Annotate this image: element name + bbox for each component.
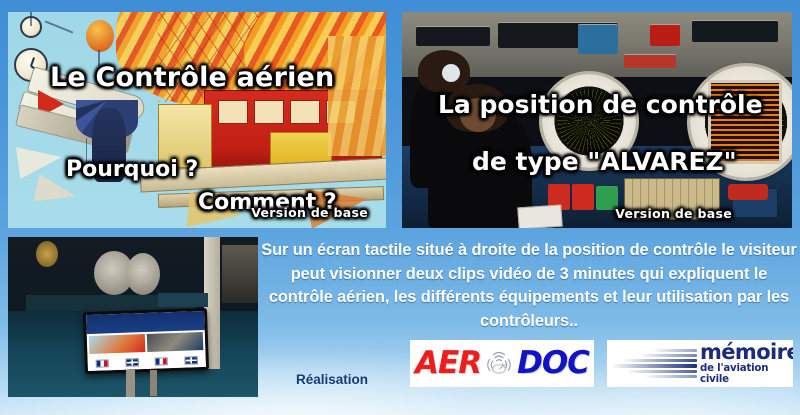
red-button-bar-icon: [728, 184, 768, 200]
flag-uk-icon[interactable]: [184, 356, 197, 364]
alvarez-title-line-2: de type "ALVAREZ": [472, 147, 737, 176]
gondola-window-icon: [290, 100, 320, 124]
flag-fr-icon[interactable]: [96, 359, 109, 367]
affiche-title: Le Contrôle aérien: [50, 62, 334, 93]
kiosk-language-bar[interactable]: [88, 352, 206, 371]
ceiling-panel-icon: [692, 20, 778, 42]
photo-borne-tactile[interactable]: [8, 237, 258, 397]
exhibit-lamp-icon: [36, 241, 58, 267]
memoire-wordmark: mémoire de l'aviation civile: [697, 342, 793, 384]
memoire-title: mémoire: [700, 342, 793, 363]
alvarez-version-label: Version de base: [615, 206, 732, 221]
radar-antenna-icon: [482, 347, 516, 381]
touchscreen-kiosk[interactable]: [83, 308, 209, 374]
exhibit-table: [158, 293, 208, 307]
ceiling-monitor-icon: [578, 24, 618, 54]
gondola-window-icon: [254, 100, 284, 124]
flight-strip-holder: [572, 184, 594, 210]
hot-air-balloon-icon: [86, 20, 114, 52]
flag-fr-icon[interactable]: [155, 357, 168, 365]
aerodoc-text-aer: AER: [415, 348, 481, 379]
kiosk-stand-leg: [150, 370, 157, 396]
memoire-subtitle: de l'aviation civile: [700, 364, 793, 384]
affiche-question-1: Pourquoi ?: [66, 157, 198, 182]
red-indicator-icon: [624, 54, 676, 68]
logo-aerodoc[interactable]: AER DOC: [410, 340, 594, 387]
photo-affiche-controle-aerien[interactable]: Le Contrôle aérien Pourquoi ? Comment ? …: [8, 12, 386, 228]
caption-text: Sur un écran tactile situé à droite de l…: [258, 239, 800, 333]
right-panel-icon: [328, 36, 386, 156]
realisation-label: Réalisation: [296, 372, 368, 387]
cord-icon: [30, 12, 32, 26]
cord-icon: [45, 20, 74, 33]
badge-icon: [442, 64, 460, 82]
gondola-window-icon: [218, 100, 248, 124]
alvarez-title-line-1: La position de contrôle: [438, 90, 763, 119]
speed-lines-icon: [611, 349, 697, 379]
room-doorway: [222, 245, 258, 303]
paper-plane-icon: [16, 141, 64, 179]
poster-canvas: Le Contrôle aérien Pourquoi ? Comment ? …: [0, 0, 800, 415]
aerodoc-wordmark: AER DOC: [415, 347, 589, 381]
aerodoc-text-doc: DOC: [517, 348, 589, 379]
flag-uk-icon[interactable]: [125, 358, 138, 366]
kiosk-thumbnail-alvarez[interactable]: [147, 332, 204, 352]
logo-memoire-aviation-civile[interactable]: mémoire de l'aviation civile: [607, 340, 793, 387]
paper-sheet-icon: [517, 204, 562, 228]
kiosk-screen[interactable]: [86, 311, 206, 371]
affiche-version-label: Version de base: [251, 205, 368, 220]
ceiling-panel-icon: [416, 26, 490, 46]
photo-position-controle-alvarez[interactable]: La position de contrôle de type "ALVAREZ…: [402, 12, 792, 228]
emergency-light-icon: [650, 24, 680, 46]
kiosk-thumbnail-affiche[interactable]: [89, 334, 146, 354]
exhibit-machine-icon: [126, 253, 160, 295]
kiosk-stand-leg: [126, 370, 135, 397]
caption-block: Sur un écran tactile situé à droite de l…: [258, 237, 800, 333]
